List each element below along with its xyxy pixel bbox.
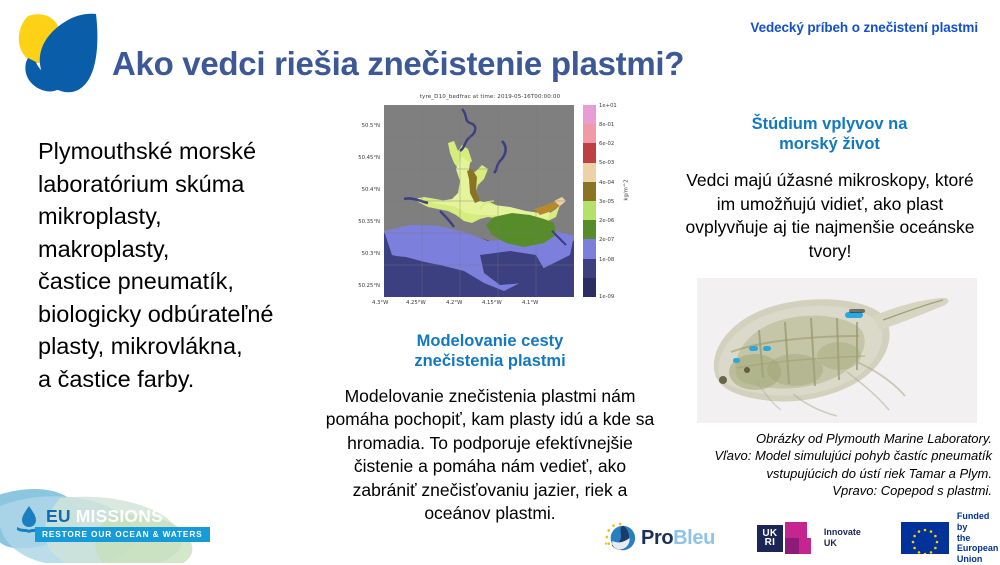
left-line: častice pneumatík, [38,265,338,298]
left-line: laboratórium skúma [38,168,338,201]
eu-mission-logo-mark [8,6,112,104]
left-line: mikroplasty, [38,200,338,233]
colorbar-tick: 6e-02 [599,141,614,147]
colorbar-segment [583,278,596,297]
colorbar-segment [583,239,596,258]
chart-ytick: 50.5°N [362,123,380,129]
funded-line-2: the European Union [957,533,1000,565]
eu-missions-tagline: RESTORE OUR OCEAN & WATERS [35,527,210,542]
left-column-body: Plymouthské morské laboratórium skúma mi… [38,135,338,395]
chart-ytick: 50.3°N [362,251,380,257]
page-title: Ako vedci riešia znečistenie plastmi? [112,45,684,83]
eu-missions-word-eu: EU [46,506,76,526]
colorbar-segment [583,124,596,143]
colorbar-tick: 1e-08 [599,257,614,263]
photo-caption: Obrázky od Plymouth Marine Laboratory. V… [672,430,992,499]
left-line: makroplasty, [38,233,338,266]
chart-colorbar [583,105,596,297]
copepod-microscope-photo [697,278,977,423]
chart-ytick: 50.25°N [358,283,380,289]
colorbar-segment [583,143,596,162]
colorbar-tick: 1e-09 [599,294,614,300]
left-line: Plymouthské morské [38,135,338,168]
chart-xtick: 4.25°W [406,300,426,306]
chart-xtick: 4.1°W [522,300,538,306]
caption-line: Vľavo: Model simulujúci pohyb častíc pne… [672,447,992,464]
model-map-figure: tyre_D10_bedfrac at time: 2019-05-16T00:… [340,94,640,326]
caption-line: Obrázky od Plymouth Marine Laboratory. [672,430,992,447]
colorbar-segment [583,259,596,278]
funded-line-1: Funded by [957,511,1000,533]
chart-ytick: 50.35°N [358,219,380,225]
right-heading-line: morský život [672,134,987,154]
colorbar-tick: 8e-01 [599,122,614,128]
colorbar-segment [583,220,596,239]
innovate-uk-text: Innovate UK [824,527,861,548]
ukri-line-2: RI [757,538,783,548]
eu-missions-wordmark: EU MISSIONS [46,506,163,527]
funded-by-text: Funded by the European Union [957,511,1000,565]
colorbar-tick: 3e-05 [599,199,614,205]
chart-plot-area [384,105,574,297]
colorbar-tick: 1e+01 [599,103,617,109]
slide-canvas: Vedecký príbeh o znečistení plastmi Ako … [0,0,1000,563]
caption-line: vstupujúcich do ústí riek Tamar a Plym. [672,465,992,482]
right-heading-line: Štúdium vplyvov na [672,114,987,134]
funded-by-eu-logo: Funded by the European Union [901,511,1000,565]
colorbar-tick: 5e-03 [599,160,614,166]
chart-title: tyre_D10_bedfrac at time: 2019-05-16T00:… [340,94,640,100]
probleu-logo: ProBleu [605,522,715,554]
colorbar-tick: 2e-06 [599,218,614,224]
left-line: plasty, mikrovlákna, [38,330,338,363]
left-line: biologicky odbúrateľné [38,298,338,331]
chart-xtick: 4.3°W [372,300,388,306]
colorbar-segment [583,201,596,220]
eu-missions-word-missions: MISSIONS [76,506,163,526]
probleu-word-bleu: Bleu [673,527,715,549]
center-column-heading: Modelovanie cesty znečistenia plastmi [340,331,640,372]
probleu-globe-icon [605,522,637,554]
ukri-initials: UK RI [757,525,783,552]
center-heading-line: Modelovanie cesty [340,331,640,351]
chart-xtick: 4.15°W [482,300,502,306]
colorbar-axis-label: kg/m^2 [624,179,630,200]
colorbar-segment [583,105,596,124]
chart-ytick: 50.4°N [362,187,380,193]
colorbar-tick: 2e-07 [599,237,614,243]
slide-kicker: Vedecký príbeh o znečistení plastmi [750,20,978,35]
chart-ytick: 50.45°N [358,155,380,161]
innovate-line-1: Innovate [824,527,861,538]
center-heading-line: znečistenia plastmi [340,351,640,371]
ukri-mark: UK RI [755,522,817,554]
eu-missions-badge: EU MISSIONS RESTORE OUR OCEAN & WATERS [0,476,228,563]
left-line: a častice farby. [38,363,338,396]
innovate-line-2: UK [824,538,861,549]
chart-xtick: 4.2°W [446,300,462,306]
colorbar-tick: 4e-04 [599,180,614,186]
right-column-heading: Štúdium vplyvov na morský život [672,114,987,155]
probleu-word-pro: Pro [641,527,673,549]
center-column-body: Modelovanie znečistenia plastmi nám pomá… [322,385,658,526]
funder-logo-bar: ProBleu UK RI Innovate UK [605,517,1000,559]
right-column-body: Vedci majú úžasné mikroskopy, ktoré im u… [676,169,984,263]
innovate-uk-logo: UK RI Innovate UK [755,522,861,554]
colorbar-segment [583,163,596,182]
probleu-wordmark: ProBleu [641,527,715,550]
eu-flag-icon [901,522,949,554]
caption-line: Vpravo: Copepod s plastmi. [672,482,992,499]
colorbar-segment [583,182,596,201]
